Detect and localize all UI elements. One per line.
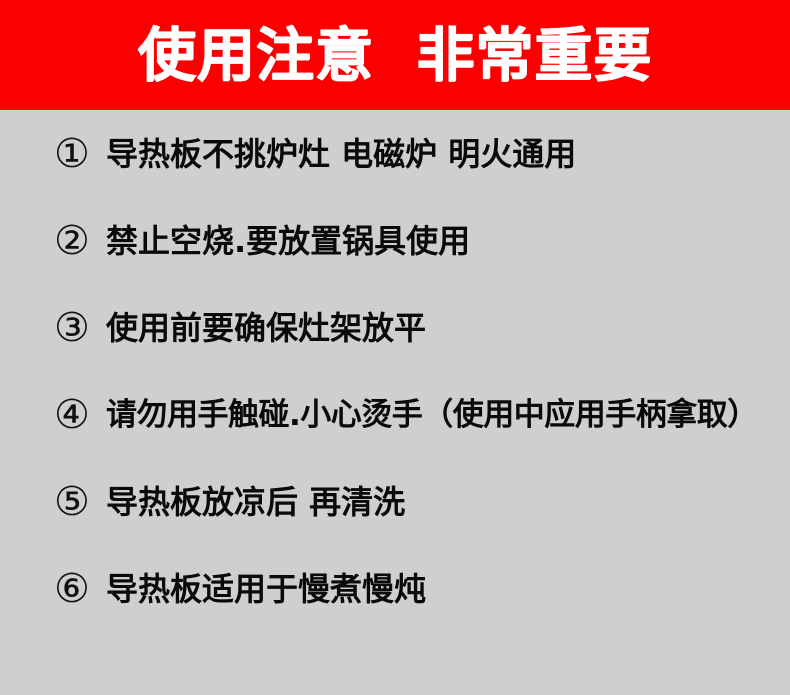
list-item: ④ 请勿用手触碰.小心烫手（使用中应用手柄拿取） (0, 389, 790, 476)
notice-item-text: 导热板适用于慢煮慢炖 (102, 563, 790, 615)
notice-item-text: 导热板放凉后 再清洗 (102, 476, 790, 528)
notice-item-text: 请勿用手触碰.小心烫手（使用中应用手柄拿取） (102, 389, 790, 441)
circled-number-2-icon: ② (54, 215, 102, 267)
notice-item-text: 导热板不挑炉灶 电磁炉 明火通用 (102, 128, 790, 180)
list-item: ⑤ 导热板放凉后 再清洗 (0, 476, 790, 563)
circled-number-4-icon: ④ (54, 389, 102, 441)
list-item: ① 导热板不挑炉灶 电磁炉 明火通用 (0, 128, 790, 215)
notice-page: 使用注意 非常重要 ① 导热板不挑炉灶 电磁炉 明火通用 ② 禁止空烧.要放置锅… (0, 0, 790, 695)
notice-list: ① 导热板不挑炉灶 电磁炉 明火通用 ② 禁止空烧.要放置锅具使用 ③ 使用前要… (0, 110, 790, 695)
circled-number-3-icon: ③ (54, 302, 102, 354)
notice-item-text: 禁止空烧.要放置锅具使用 (102, 215, 790, 267)
circled-number-1-icon: ① (54, 128, 102, 180)
list-item: ② 禁止空烧.要放置锅具使用 (0, 215, 790, 302)
banner-title: 使用注意 非常重要 (138, 26, 652, 84)
notice-item-text: 使用前要确保灶架放平 (102, 302, 790, 354)
list-item: ③ 使用前要确保灶架放平 (0, 302, 790, 389)
circled-number-5-icon: ⑤ (54, 476, 102, 528)
banner-header: 使用注意 非常重要 (0, 0, 790, 110)
circled-number-6-icon: ⑥ (54, 563, 102, 615)
list-item: ⑥ 导热板适用于慢煮慢炖 (0, 563, 790, 650)
